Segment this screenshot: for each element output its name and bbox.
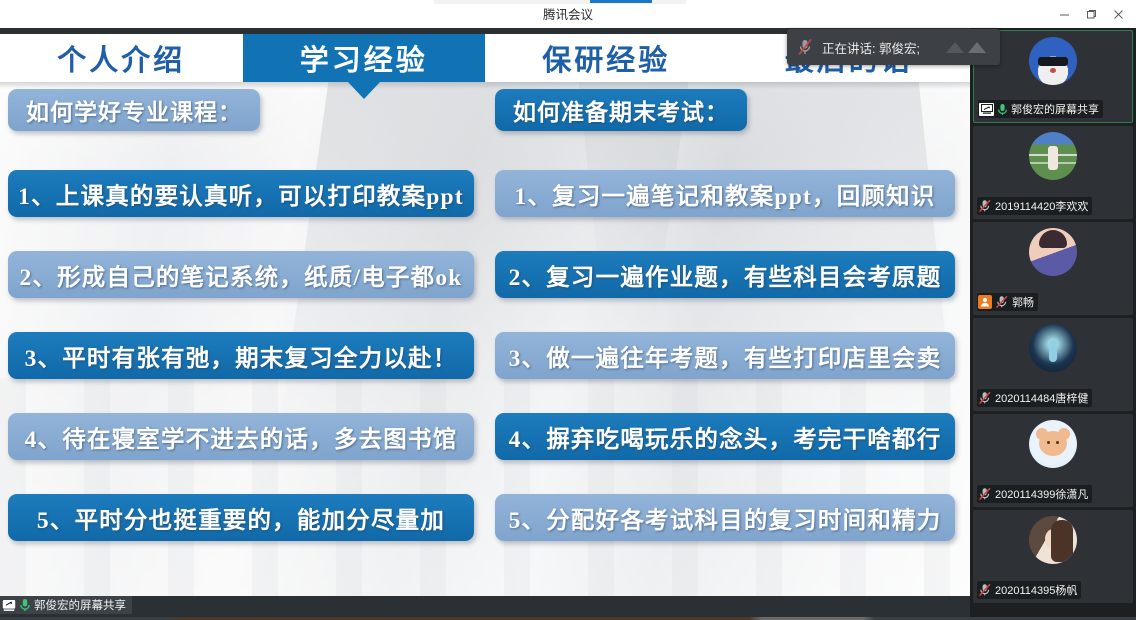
participant-name: 郭畅 bbox=[1012, 294, 1034, 310]
participant-name: 郭俊宏的屏幕共享 bbox=[1011, 101, 1099, 117]
minimize-icon[interactable] bbox=[1051, 1, 1078, 27]
avatar bbox=[1029, 324, 1077, 372]
avatar bbox=[1029, 37, 1077, 85]
avatar-image bbox=[1029, 37, 1077, 85]
participant-name-row: 2020114395杨帆 bbox=[977, 581, 1081, 599]
avatar bbox=[1029, 420, 1077, 468]
screen-share-label: 郭俊宏的屏幕共享 bbox=[34, 597, 126, 613]
slide-tab-study-experience[interactable]: 学习经验 bbox=[243, 34, 486, 82]
list-item: 3、平时有张有弛，期末复习全力以赴！ bbox=[8, 332, 474, 379]
avatar-image bbox=[1029, 132, 1077, 180]
mic-on-icon bbox=[997, 103, 1008, 116]
participant-tile[interactable]: 2019114420李欢欢 bbox=[973, 126, 1133, 219]
muted-mic-icon bbox=[978, 583, 992, 597]
avatar-image bbox=[1029, 228, 1077, 276]
slide-column-left: 如何学好专业课程： 1、上课真的要认真听，可以打印教案ppt 2、形成自己的笔记… bbox=[8, 89, 488, 541]
avatar bbox=[1029, 132, 1077, 180]
slide-tab-label: 保研经验 bbox=[542, 37, 670, 79]
slide-tab-personal-intro[interactable]: 个人介绍 bbox=[0, 34, 243, 82]
participant-name-row: 2019114420李欢欢 bbox=[977, 197, 1092, 215]
window-title: 腾讯会议 bbox=[0, 4, 1136, 28]
list-item: 2、复习一遍作业题，有些科目会考原题 bbox=[495, 251, 955, 298]
tabbar-shadow bbox=[0, 82, 970, 89]
avatar bbox=[1029, 228, 1077, 276]
mic-on-icon bbox=[19, 598, 31, 612]
list-item: 1、复习一遍笔记和教案ppt，回顾知识 bbox=[495, 170, 955, 217]
participant-name: 2020114484唐梓健 bbox=[995, 390, 1088, 406]
slide-column-right: 如何准备期末考试： 1、复习一遍笔记和教案ppt，回顾知识 2、复习一遍作业题，… bbox=[495, 89, 970, 541]
slide-content-columns: 如何学好专业课程： 1、上课真的要认真听，可以打印教案ppt 2、形成自己的笔记… bbox=[0, 89, 970, 608]
screen-share-statusbar: 郭俊宏的屏幕共享 bbox=[0, 596, 970, 614]
participant-tile[interactable]: 2020114395杨帆 bbox=[973, 510, 1133, 603]
column-header-how-to-prepare-exam: 如何准备期末考试： bbox=[495, 89, 747, 131]
avatar-image bbox=[1029, 324, 1077, 372]
participant-name: 2020114395杨帆 bbox=[995, 582, 1077, 598]
slide-tab-label: 学习经验 bbox=[300, 37, 428, 79]
participant-name: 2019114420李欢欢 bbox=[995, 198, 1088, 214]
browser-tabstrip-active-indicator bbox=[590, 0, 652, 3]
slide-tab-grad-recommendation[interactable]: 保研经验 bbox=[485, 34, 728, 82]
screen-share-icon bbox=[979, 103, 994, 116]
window-titlebar: 腾讯会议 bbox=[0, 0, 1136, 28]
meeting-window-body: 个人介绍 学习经验 保研经验 最后的话 如何学好专业课程： 1、上课真的要认真听… bbox=[0, 28, 1136, 620]
list-item: 4、摒弃吃喝玩乐的念头，考完干啥都行 bbox=[495, 413, 955, 460]
host-badge-icon bbox=[978, 295, 992, 309]
close-icon[interactable] bbox=[1105, 1, 1132, 27]
list-item: 5、分配好各考试科目的复习时间和精力 bbox=[495, 494, 955, 541]
avatar-image bbox=[1029, 420, 1077, 468]
muted-mic-icon bbox=[978, 487, 992, 501]
participant-tile[interactable]: 郭畅 bbox=[973, 222, 1133, 315]
column-header-how-to-study: 如何学好专业课程： bbox=[8, 89, 260, 131]
speaking-indicator-toast: 正在讲话: 郭俊宏; bbox=[787, 29, 1000, 65]
screen-share-pill: 郭俊宏的屏幕共享 bbox=[0, 596, 132, 614]
participant-tile[interactable]: 2020114484唐梓健 bbox=[973, 318, 1133, 411]
speaking-indicator-text: 正在讲话: 郭俊宏; bbox=[822, 38, 920, 57]
screen-share-icon bbox=[2, 599, 16, 612]
list-item: 4、待在寝室学不进去的话，多去图书馆 bbox=[8, 413, 474, 460]
muted-mic-icon bbox=[978, 199, 992, 213]
participant-name-row: 2020114484唐梓健 bbox=[977, 389, 1092, 407]
window-controls bbox=[1051, 0, 1132, 28]
list-item: 2、形成自己的笔记系统，纸质/电子都ok bbox=[8, 251, 474, 298]
slide-tab-label: 个人介绍 bbox=[57, 37, 185, 79]
muted-mic-icon bbox=[995, 295, 1009, 309]
list-item: 3、做一遍往年考题，有些打印店里会卖 bbox=[495, 332, 955, 379]
avatar bbox=[1029, 516, 1077, 564]
participant-name-row: 2020114399徐潇凡 bbox=[977, 485, 1092, 503]
participant-sidebar[interactable]: 郭俊宏的屏幕共享 2019114420李欢欢 bbox=[970, 28, 1136, 620]
muted-mic-icon bbox=[797, 38, 813, 56]
audio-wave-icon bbox=[944, 37, 990, 57]
muted-mic-icon bbox=[978, 391, 992, 405]
list-item: 1、上课真的要认真听，可以打印教案ppt bbox=[8, 170, 474, 217]
list-item: 5、平时分也挺重要的，能加分尽量加 bbox=[8, 494, 474, 541]
maximize-icon[interactable] bbox=[1078, 1, 1105, 27]
shared-screen-slide: 个人介绍 学习经验 保研经验 最后的话 如何学好专业课程： 1、上课真的要认真听… bbox=[0, 34, 970, 608]
avatar-image bbox=[1029, 516, 1077, 564]
participant-name-row: 郭畅 bbox=[977, 293, 1038, 311]
active-tab-arrow-icon bbox=[347, 81, 381, 99]
participant-name: 2020114399徐潇凡 bbox=[995, 486, 1088, 502]
participant-tile[interactable]: 2020114399徐潇凡 bbox=[973, 414, 1133, 507]
participant-name-row: 郭俊宏的屏幕共享 bbox=[978, 100, 1103, 118]
